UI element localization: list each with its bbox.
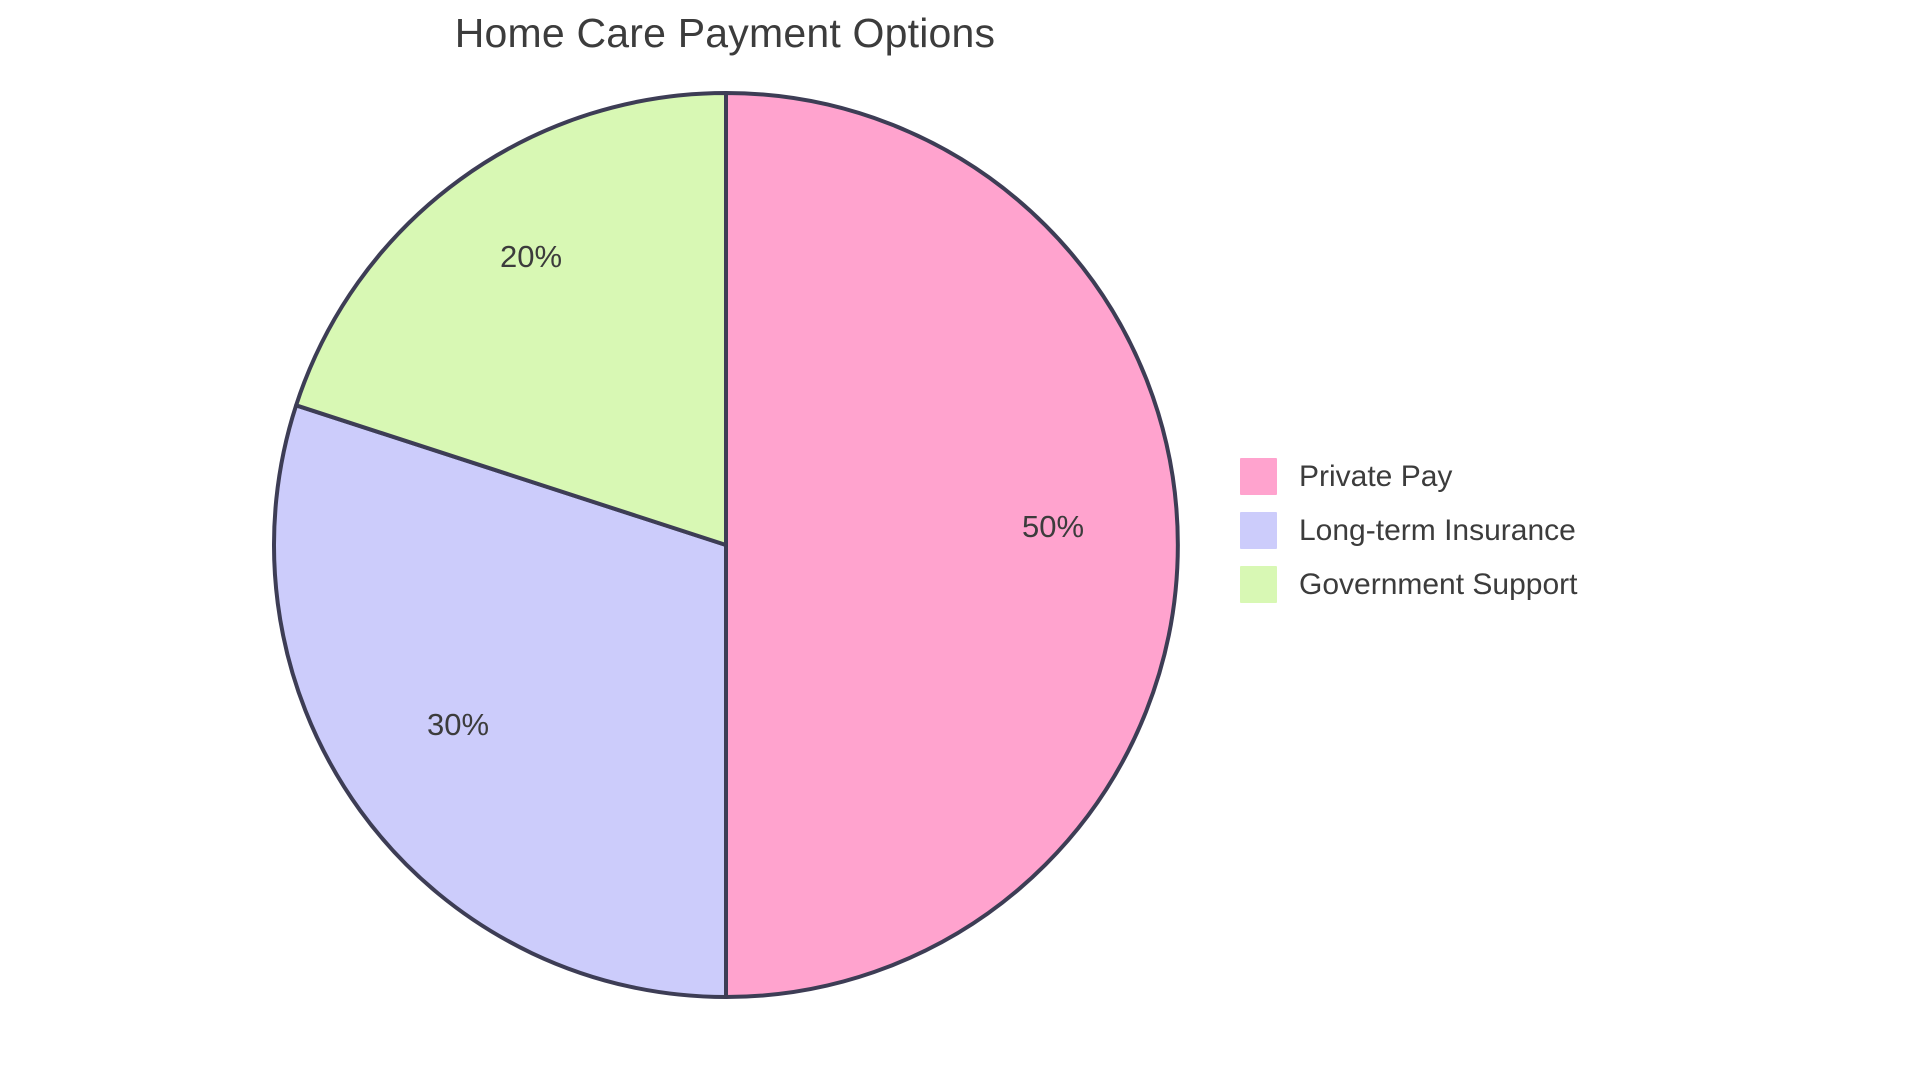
legend-item-label: Private Pay <box>1299 462 1452 492</box>
pie-slice-label: 20% <box>500 239 562 274</box>
chart-legend: Private PayLong-term InsuranceGovernment… <box>1240 458 1577 603</box>
pie-slices <box>274 93 1178 997</box>
chart-figure: Home Care Payment Options 50%30%20% Priv… <box>0 0 1920 1083</box>
legend-item-label: Long-term Insurance <box>1299 516 1576 546</box>
legend-item[interactable]: Long-term Insurance <box>1240 512 1577 549</box>
pie-chart-area: 50%30%20% <box>0 0 1920 1083</box>
legend-swatch <box>1240 512 1277 549</box>
pie-slice[interactable] <box>726 93 1178 997</box>
legend-swatch <box>1240 458 1277 495</box>
legend-item[interactable]: Private Pay <box>1240 458 1577 495</box>
legend-swatch <box>1240 566 1277 603</box>
pie-slice-label: 50% <box>1022 509 1084 544</box>
pie-chart-svg: 50%30%20% <box>0 0 1920 1083</box>
legend-item-label: Government Support <box>1299 570 1577 600</box>
pie-slice-label: 30% <box>427 707 489 742</box>
legend-item[interactable]: Government Support <box>1240 566 1577 603</box>
